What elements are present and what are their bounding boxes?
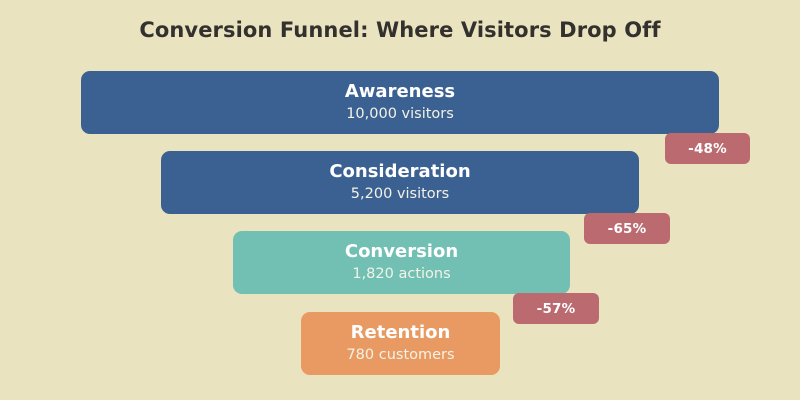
funnel-stage-value: 10,000 visitors (346, 106, 454, 123)
funnel-stage-label: Conversion (345, 242, 458, 263)
funnel-stage-retention[interactable]: Retention 780 customers (301, 312, 500, 375)
funnel-stage-value: 1,820 actions (352, 266, 450, 283)
chart-title: Conversion Funnel: Where Visitors Drop O… (0, 18, 800, 42)
drop-off-badge-consideration-to-conversion: -65% (584, 213, 670, 244)
funnel-stage-consideration[interactable]: Consideration 5,200 visitors (161, 151, 639, 214)
funnel-stage-awareness[interactable]: Awareness 10,000 visitors (81, 71, 719, 134)
drop-off-badge-label: -57% (537, 301, 576, 317)
funnel-stage-value: 5,200 visitors (351, 186, 449, 203)
funnel-stage-value: 780 customers (346, 347, 454, 364)
drop-off-badge-awareness-to-consideration: -48% (665, 133, 750, 164)
funnel-stage-label: Awareness (345, 82, 455, 103)
funnel-stage-label: Retention (351, 323, 451, 344)
funnel-chart: Conversion Funnel: Where Visitors Drop O… (0, 0, 800, 400)
drop-off-badge-conversion-to-retention: -57% (513, 293, 599, 324)
drop-off-badge-label: -48% (688, 141, 727, 157)
funnel-stage-conversion[interactable]: Conversion 1,820 actions (233, 231, 570, 294)
funnel-stage-label: Consideration (329, 162, 470, 183)
drop-off-badge-label: -65% (608, 221, 647, 237)
